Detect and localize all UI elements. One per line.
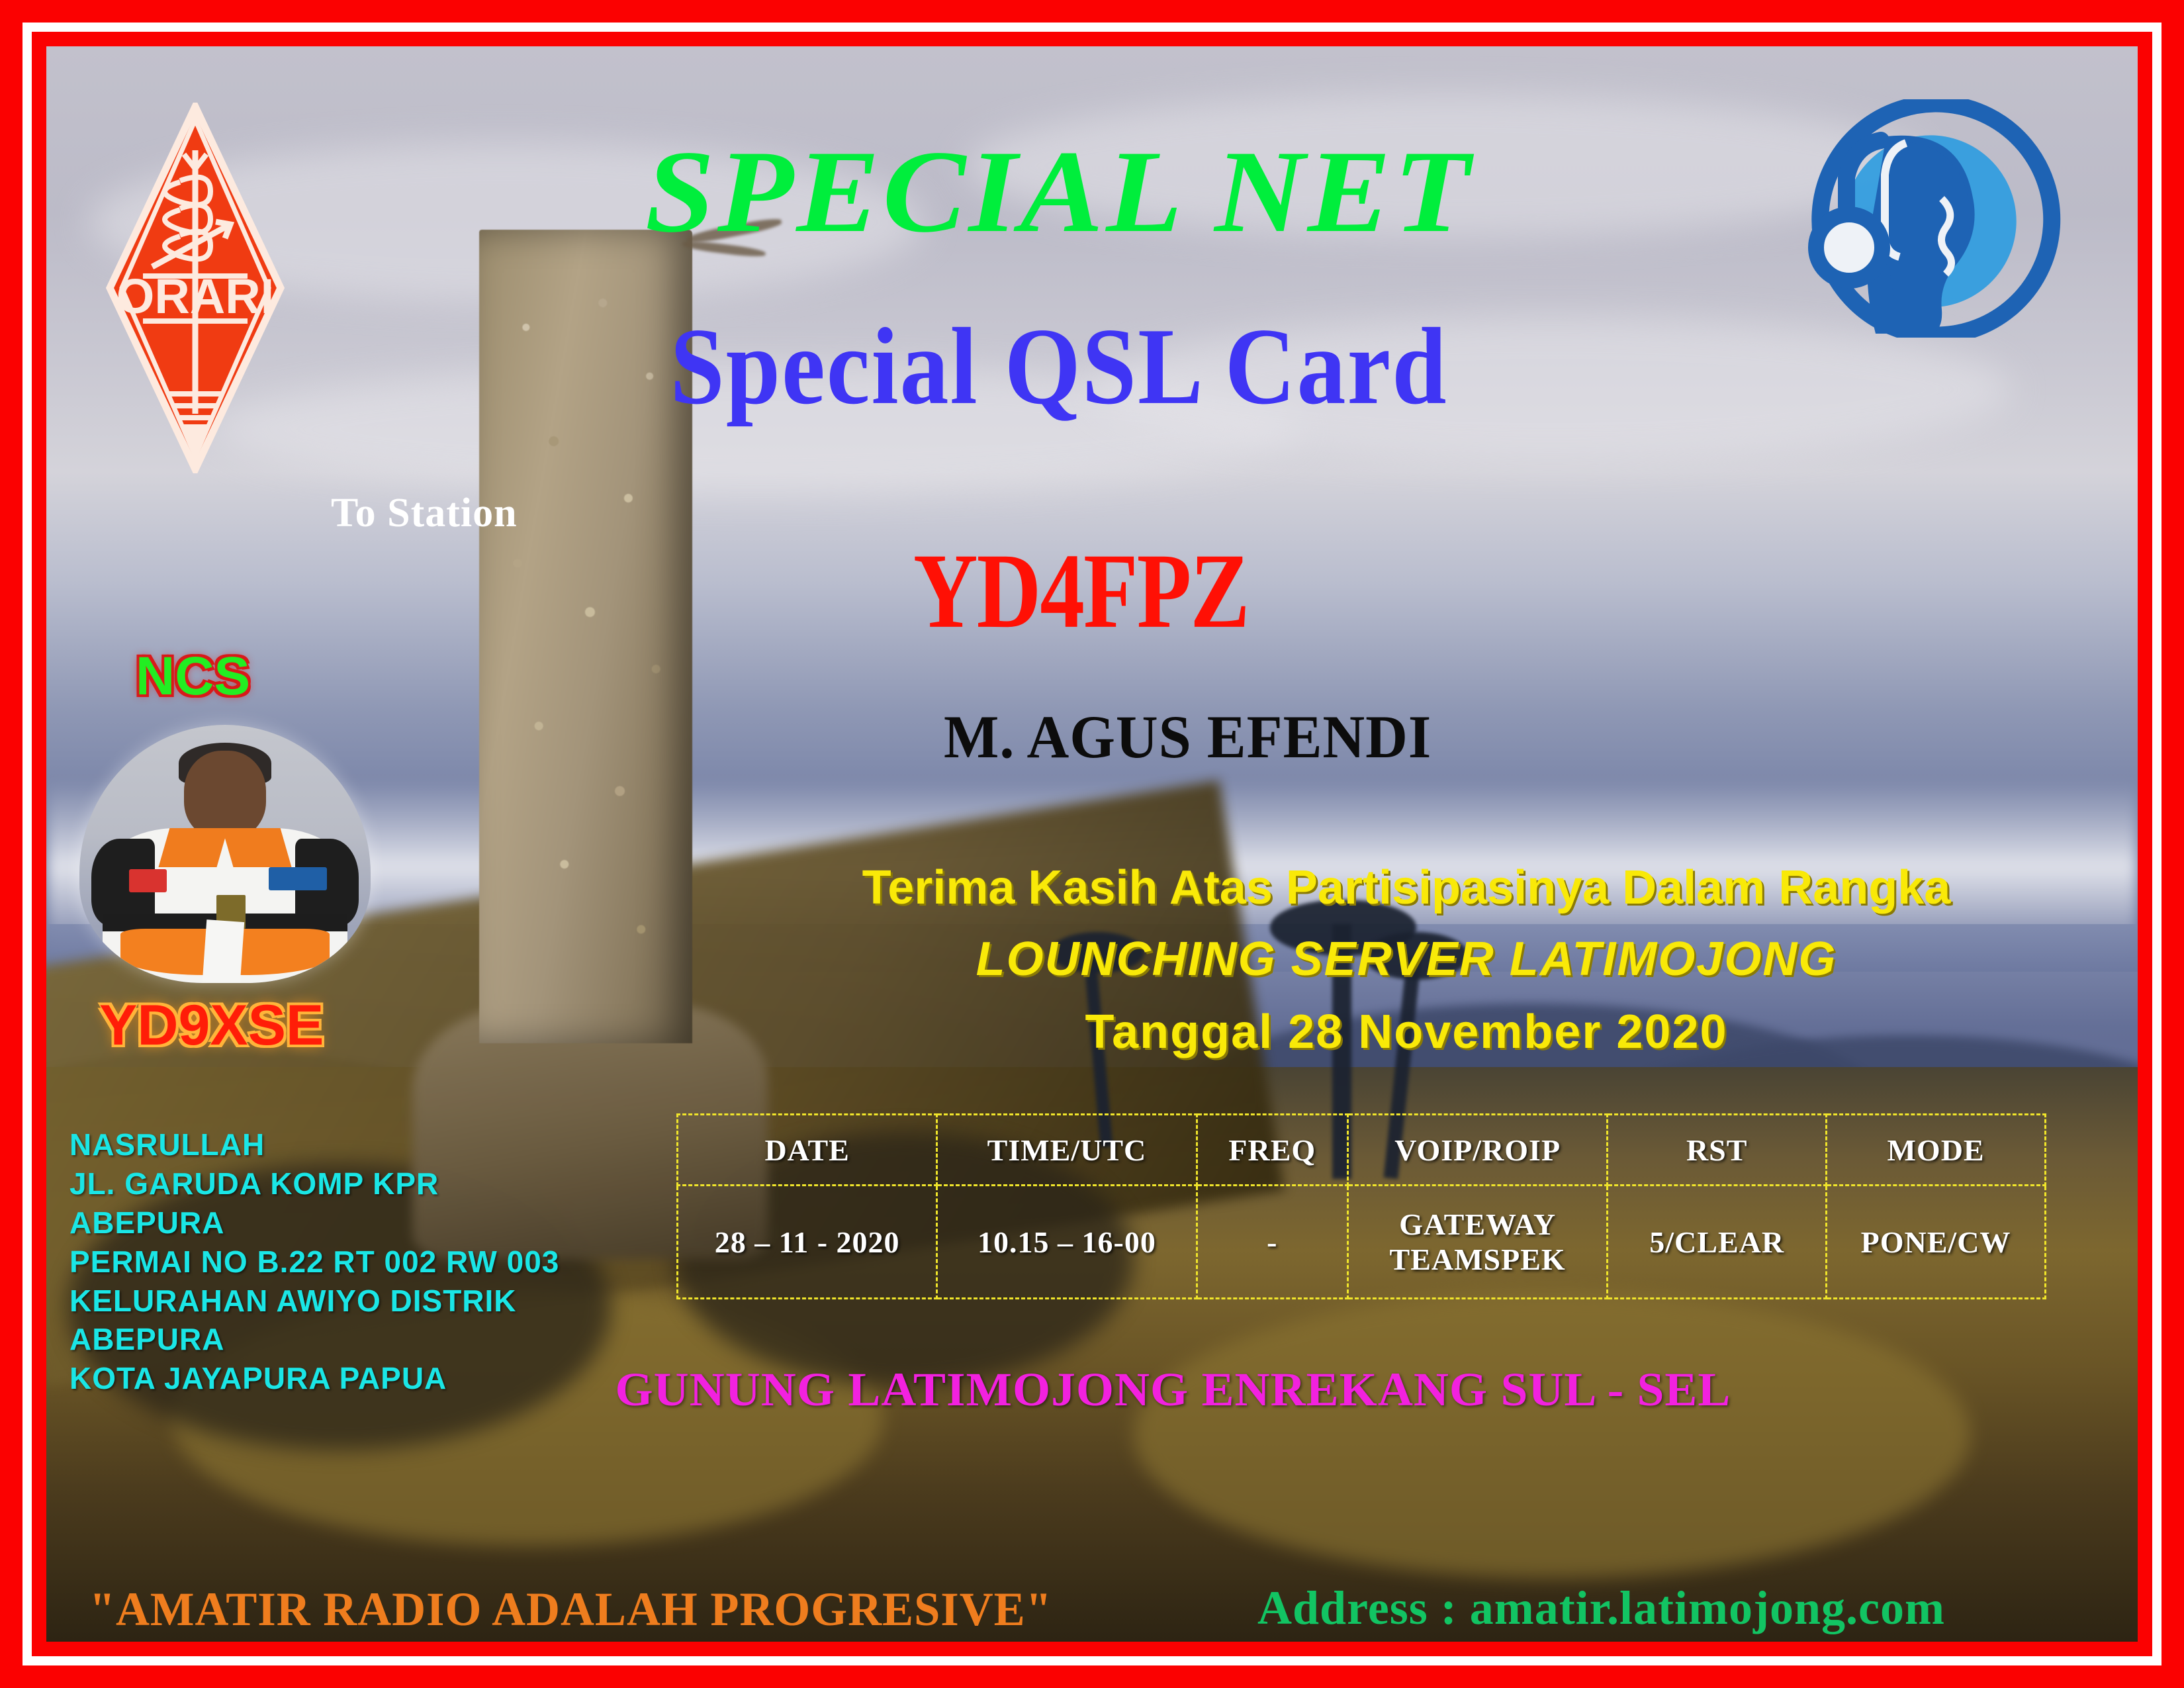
frame-outer-red [0, 0, 2184, 1688]
qsl-card: ORARI SPECIAL NET Special QSL Card To St… [0, 0, 2184, 1688]
